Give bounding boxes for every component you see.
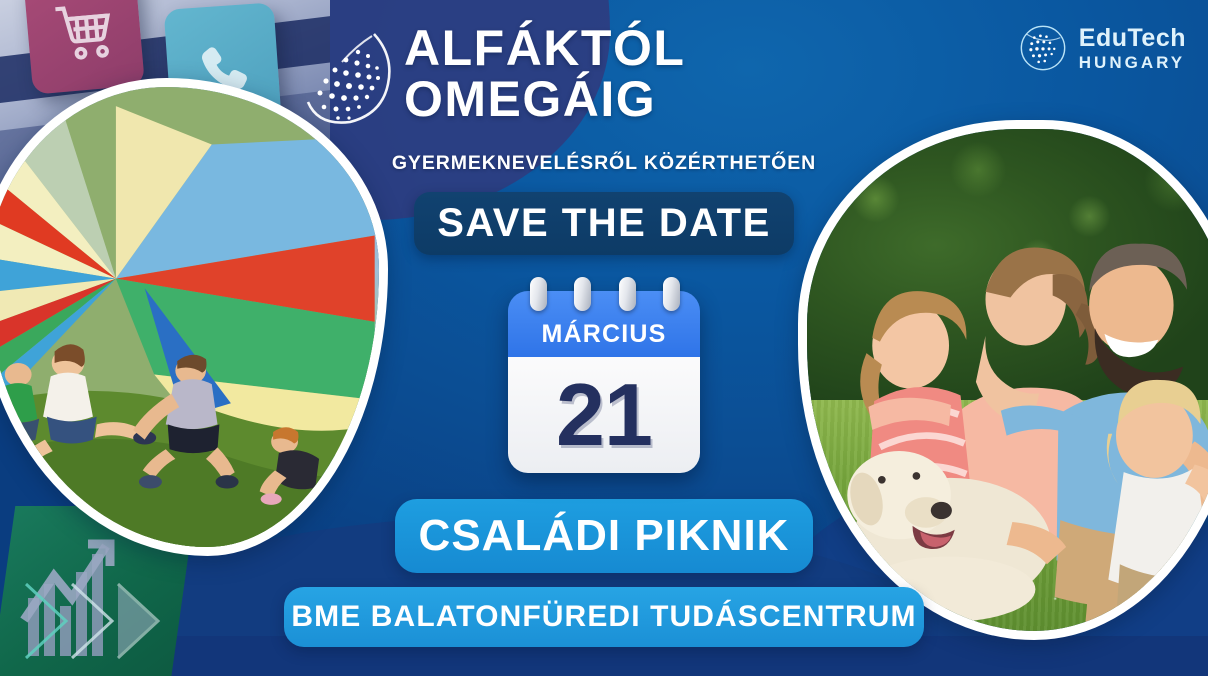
edutech-hungary-logo: EduTech HUNGARY bbox=[1017, 22, 1186, 74]
venue-text: BME BALATONFÜREDI TUDÁSCENTRUM bbox=[291, 600, 916, 634]
event-name-text: CSALÁDI PIKNIK bbox=[419, 511, 790, 561]
poster-center-column: ALFÁKTÓL OMEGÁIG GYERMEKNEVELÉSRŐL KÖZÉR… bbox=[284, 0, 924, 676]
venue-pill: BME BALATONFÜREDI TUDÁSCENTRUM bbox=[284, 587, 924, 647]
calendar-day-face: 21 bbox=[508, 357, 700, 473]
edutech-country: HUNGARY bbox=[1079, 54, 1186, 71]
save-the-date-text: SAVE THE DATE bbox=[437, 201, 771, 246]
shopping-cart-icon bbox=[23, 0, 145, 95]
calendar-icon: MÁRCIUS 21 bbox=[508, 277, 700, 473]
calendar-month-label: MÁRCIUS bbox=[541, 320, 666, 349]
poster-subtitle: GYERMEKNEVELÉSRŐL KÖZÉRTHETŐEN bbox=[284, 152, 924, 175]
calendar-ring bbox=[619, 277, 636, 311]
calendar-ring bbox=[530, 277, 547, 311]
event-name-pill: CSALÁDI PIKNIK bbox=[395, 499, 813, 573]
chevron-arrows-icon bbox=[20, 576, 190, 666]
calendar-rings bbox=[530, 277, 680, 307]
poster-title-line-1: ALFÁKTÓL bbox=[404, 22, 884, 74]
calendar-body: MÁRCIUS 21 bbox=[508, 291, 700, 473]
poster-title-line-2: OMEGÁIG bbox=[404, 73, 884, 125]
edutech-name: EduTech bbox=[1079, 26, 1186, 51]
calendar-ring bbox=[663, 277, 680, 311]
dotted-sphere-icon bbox=[1017, 22, 1069, 74]
brand-header: ALFÁKTÓL OMEGÁIG bbox=[284, 22, 924, 142]
calendar-day-number: 21 bbox=[556, 372, 652, 458]
calendar-ring bbox=[574, 277, 591, 311]
dotted-sphere-icon bbox=[302, 26, 402, 130]
event-poster: EduTech HUNGARY ALFÁKTÓL bbox=[0, 0, 1208, 676]
save-the-date-banner: SAVE THE DATE bbox=[414, 192, 794, 255]
